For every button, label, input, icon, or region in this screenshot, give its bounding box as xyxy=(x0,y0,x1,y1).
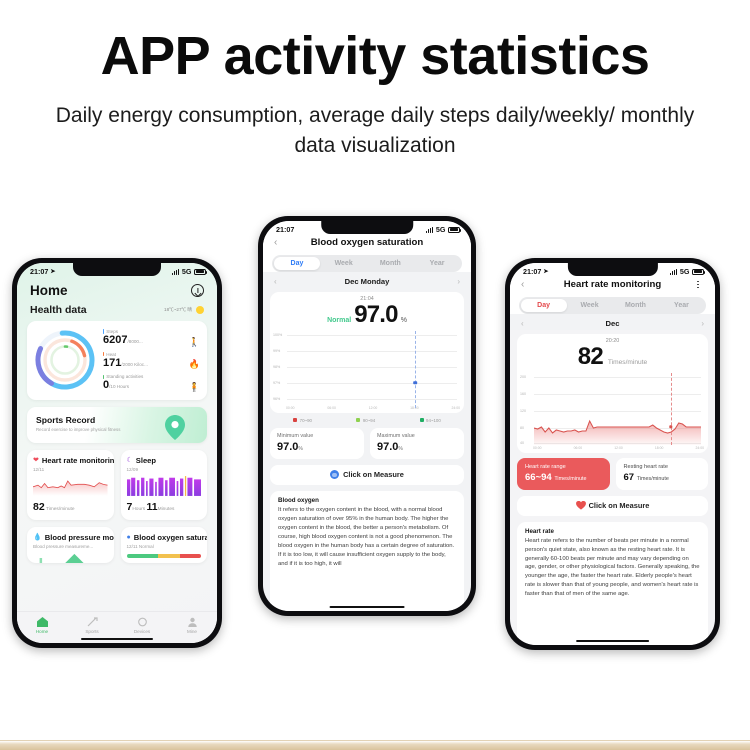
tab-home[interactable]: Home xyxy=(17,616,67,634)
range-unit: Times/minute xyxy=(554,476,586,482)
ytick-99: 99% xyxy=(273,349,280,353)
info-text: It refers to the oxygen content in the b… xyxy=(278,506,456,569)
nav-bar: ‹ Heart rate monitoring xyxy=(510,277,715,295)
battery-icon xyxy=(448,227,460,233)
sports-record-card[interactable]: Sports Record Record exercise to improve… xyxy=(27,407,207,443)
heart-rate-area-chart xyxy=(534,373,701,445)
legend-item-mid: 90~94 xyxy=(356,418,375,423)
heart-rate-info-card: Heart rate Heart rate refers to the numb… xyxy=(517,522,708,645)
phone-notch xyxy=(321,221,413,234)
ytick-200: 200 xyxy=(520,375,526,379)
tab-sports-label: Sports xyxy=(67,629,117,634)
signal-icon xyxy=(426,227,434,233)
maximum-value: 97.0 xyxy=(377,441,398,453)
click-on-measure-button[interactable]: Click on Measure xyxy=(517,496,708,516)
chevron-left-icon[interactable]: ‹ xyxy=(274,237,286,248)
steps-value: 6207 xyxy=(103,334,127,346)
location-pin-icon xyxy=(165,415,185,440)
heart-rate-chart-card: 20:20 82 Times/minute 200 160 120 80 40 xyxy=(517,334,708,453)
weather-info: 18℃~27℃ 晴 xyxy=(164,306,204,314)
devices-icon xyxy=(117,616,167,627)
segment-week[interactable]: Week xyxy=(320,257,367,270)
network-label: 5G xyxy=(436,225,446,234)
resting-unit: Times/minute xyxy=(637,476,669,482)
xtick-4: 24:00 xyxy=(452,406,461,410)
sleep-date: 12/09 xyxy=(127,467,202,472)
current-date: Dec Monday xyxy=(284,277,450,286)
heart-rate-plot: 200 160 120 80 40 xyxy=(520,373,704,445)
blood-oxygen-chart-card: 21:04 Normal 97.0 % 100% 99% 98% 97% 96%… xyxy=(270,292,464,413)
blood-oxygen-title: Blood oxygen saturation xyxy=(134,533,207,542)
status-badge: Normal xyxy=(327,317,351,324)
ytick-160: 160 xyxy=(520,392,526,396)
sun-icon xyxy=(196,306,204,314)
card-blood-oxygen[interactable]: ●Blood oxygen saturation 12/11 Normal xyxy=(121,527,208,563)
status-time: 21:07 xyxy=(30,267,48,276)
heart-rate-unit: Times/minute xyxy=(46,507,75,512)
moon-icon: ☾ xyxy=(127,456,133,464)
xtick-3: 18:00 xyxy=(655,446,664,450)
phone-heart-rate-screen: 21:07 ➤ 5G ‹ Heart rate monitoring Day xyxy=(505,258,720,650)
heart-icon: ❤ xyxy=(33,456,39,464)
sports-icon xyxy=(67,616,117,627)
segment-day[interactable]: Day xyxy=(521,299,567,312)
heart-rate-date: 12/11 xyxy=(33,467,108,472)
standing-goal: /10 Hours xyxy=(109,384,129,389)
location-arrow-icon: ➤ xyxy=(50,268,55,275)
xtick-4: 24:00 xyxy=(696,446,705,450)
legend-item-high: 94~100 xyxy=(420,418,441,423)
walking-icon: 🚶 xyxy=(189,338,200,347)
metric-heat: Heat 171/2000 Kiloc... 🔥 xyxy=(103,352,200,370)
card-sleep[interactable]: ☾Sleep 12/09 7H xyxy=(121,450,208,520)
blood-oxygen-info-card: Blood oxygen It refers to the oxygen con… xyxy=(270,491,464,611)
home-title: Home xyxy=(30,283,68,298)
activity-rings-chart xyxy=(34,329,96,391)
xtick-2: 12:00 xyxy=(614,446,623,450)
spo2-data-point xyxy=(413,381,417,385)
phone-home-screen: 21:07 ➤ 5G Home Health data 18℃~27℃ 晴 xyxy=(12,258,222,648)
heart-rate-value: 82 xyxy=(33,501,45,513)
home-indicator xyxy=(330,606,405,609)
ytick-98: 98% xyxy=(273,365,280,369)
info-text: Heart rate refers to the number of beats… xyxy=(525,537,700,600)
tab-mine[interactable]: Mine xyxy=(167,616,217,634)
xtick-2: 12:00 xyxy=(369,406,378,410)
card-blood-pressure[interactable]: 💧Blood pressure monitoring Blood pressur… xyxy=(27,527,114,563)
info-title: Blood oxygen xyxy=(278,497,456,504)
tab-home-label: Home xyxy=(17,629,67,634)
kebab-menu-icon[interactable] xyxy=(692,281,704,289)
heart-rate-unit: Times/minute xyxy=(608,359,647,366)
blood-oxygen-dot-icon: ● xyxy=(127,534,131,541)
resting-value: 67 xyxy=(624,472,635,483)
person-icon xyxy=(167,616,217,627)
phone-notch xyxy=(73,263,161,276)
metric-steps: Steps 6207/8000... 🚶 xyxy=(103,329,200,347)
screen-title: Heart rate monitoring xyxy=(533,279,692,290)
tab-devices-label: Devices xyxy=(117,629,167,634)
heart-rate-title: Heart rate monitoring xyxy=(42,456,114,465)
info-title: Heart rate xyxy=(525,528,700,535)
ytick-80: 80 xyxy=(520,426,524,430)
maximum-value-card: Maximum value 97.0% xyxy=(370,428,464,459)
segment-year[interactable]: Year xyxy=(414,257,461,270)
tab-sports[interactable]: Sports xyxy=(67,616,117,634)
range-label: Heart rate range xyxy=(525,464,602,470)
ytick-100: 100% xyxy=(273,333,282,337)
health-data-card[interactable]: Steps 6207/8000... 🚶 Heat 171/2000 Kiloc… xyxy=(27,321,207,400)
xtick-1: 06:00 xyxy=(574,446,583,450)
network-label: 5G xyxy=(680,267,690,276)
click-on-measure-button[interactable]: Click on Measure xyxy=(270,465,464,485)
spo2-plot: 100% 99% 98% 97% 96% xyxy=(273,331,460,405)
date-navigator: ‹ Dec Monday › xyxy=(263,272,471,288)
resting-heart-rate-card: Resting heart rate 67 Times/minute xyxy=(616,458,709,490)
blood-oxygen-status: 12/11 Normal xyxy=(127,544,202,549)
sleep-minutes-unit: Minutes xyxy=(158,507,175,512)
current-date: Dec xyxy=(531,319,694,328)
selection-line xyxy=(671,373,672,445)
legend-item-low: 70~90 xyxy=(293,418,312,423)
segment-month[interactable]: Month xyxy=(613,299,659,312)
sleep-title: Sleep xyxy=(136,456,156,465)
flame-icon: 🔥 xyxy=(189,360,200,369)
sleep-hours-unit: Hours xyxy=(132,507,145,512)
spo2-x-axis: 00:00 06:00 12:00 18:00 24:00 xyxy=(270,405,464,410)
selection-line xyxy=(415,331,416,408)
home-indicator xyxy=(576,640,650,643)
resting-label: Resting heart rate xyxy=(624,464,701,470)
tab-mine-label: Mine xyxy=(167,629,217,634)
sleep-minutes: 11 xyxy=(146,501,157,513)
status-time: 21:07 xyxy=(276,225,294,234)
weather-text: 18℃~27℃ 晴 xyxy=(164,307,192,313)
spo2-value: 97.0 xyxy=(354,301,398,329)
card-heart-rate[interactable]: ❤Heart rate monitoring 12/11 82 Times/mi… xyxy=(27,450,114,520)
segment-year[interactable]: Year xyxy=(658,299,704,312)
next-date-icon[interactable]: › xyxy=(450,277,460,286)
steps-goal: /8000... xyxy=(127,339,142,344)
xtick-0: 00:00 xyxy=(286,406,295,410)
status-time: 21:07 xyxy=(523,267,541,276)
next-date-icon[interactable]: › xyxy=(694,319,704,328)
download-circle-icon[interactable] xyxy=(191,284,204,297)
maximum-label: Maximum value xyxy=(377,433,457,440)
heart-rate-value: 82 xyxy=(578,343,603,371)
blood-pressure-chart xyxy=(33,552,108,563)
segment-month[interactable]: Month xyxy=(367,257,414,270)
chevron-left-icon[interactable]: ‹ xyxy=(521,279,533,290)
hero-header: APP activity statistics Daily energy con… xyxy=(0,28,750,162)
location-arrow-icon: ➤ xyxy=(543,268,548,275)
minimum-value-card: Minimum value 97.0% xyxy=(270,428,364,459)
segment-week[interactable]: Week xyxy=(567,299,613,312)
heat-value: 171 xyxy=(103,357,121,369)
page-subtitle: Daily energy consumption, average daily … xyxy=(0,101,750,162)
home-header: Home xyxy=(17,277,217,302)
signal-icon xyxy=(670,269,678,275)
heat-goal: /2000 Kiloc... xyxy=(121,362,148,367)
maximum-unit: % xyxy=(398,446,402,452)
period-segmented-control[interactable]: Day Week Month Year xyxy=(272,255,462,272)
measure-button-label: Click on Measure xyxy=(343,470,404,479)
date-navigator: ‹ Dec › xyxy=(510,314,715,330)
screen-title: Blood oxygen saturation xyxy=(286,237,448,248)
home-indicator xyxy=(81,638,153,641)
segment-day[interactable]: Day xyxy=(274,257,321,270)
xtick-1: 06:00 xyxy=(327,406,336,410)
bottom-surface-strip xyxy=(0,740,750,750)
ytick-97: 97% xyxy=(273,381,280,385)
ytick-96: 96% xyxy=(273,397,280,401)
measure-button-label: Click on Measure xyxy=(589,501,650,510)
nav-bar: ‹ Blood oxygen saturation xyxy=(263,235,471,253)
spo2-unit: % xyxy=(401,317,407,324)
range-value: 66~94 xyxy=(525,472,552,483)
phone-blood-oxygen-screen: 21:07 5G ‹ Blood oxygen saturation Day W… xyxy=(258,216,476,616)
prev-date-icon[interactable]: ‹ xyxy=(521,319,531,328)
page-title: APP activity statistics xyxy=(0,28,750,85)
heart-rate-x-axis: 00:00 06:00 12:00 18:00 24:00 xyxy=(517,445,708,450)
blood-oxygen-scale xyxy=(127,554,202,558)
ytick-40: 40 xyxy=(520,441,524,445)
ytick-120: 120 xyxy=(520,409,526,413)
battery-icon xyxy=(692,269,704,275)
blood-pressure-desc: Blood pressure measureme... xyxy=(33,544,108,549)
heart-icon xyxy=(576,501,585,510)
minimum-label: Minimum value xyxy=(277,433,357,440)
standing-person-icon: 🧍 xyxy=(189,383,200,392)
blood-oxygen-dot-icon xyxy=(330,470,339,479)
minimum-value: 97.0 xyxy=(277,441,298,453)
blood-pressure-title: Blood pressure monitoring xyxy=(45,533,114,542)
spo2-legend: 70~90 90~94 94~100 xyxy=(263,413,471,424)
home-icon xyxy=(17,616,67,627)
battery-icon xyxy=(194,269,206,275)
heart-rate-sparkline xyxy=(33,475,108,497)
metric-standing: Standing activities 0/10 Hours 🧍 xyxy=(103,374,200,392)
health-data-label: Health data xyxy=(30,304,87,316)
droplet-icon: 💧 xyxy=(33,533,42,541)
signal-icon xyxy=(172,269,180,275)
period-segmented-control[interactable]: Day Week Month Year xyxy=(519,297,706,314)
sleep-bar-chart xyxy=(127,475,202,497)
phone-notch xyxy=(567,263,657,276)
network-label: 5G xyxy=(182,267,192,276)
minimum-unit: % xyxy=(298,446,302,452)
heart-rate-range-card: Heart rate range 66~94 Times/minute xyxy=(517,458,610,490)
health-data-header: Health data 18℃~27℃ 晴 xyxy=(17,302,217,321)
xtick-0: 00:00 xyxy=(533,446,542,450)
tab-devices[interactable]: Devices xyxy=(117,616,167,634)
prev-date-icon[interactable]: ‹ xyxy=(274,277,284,286)
